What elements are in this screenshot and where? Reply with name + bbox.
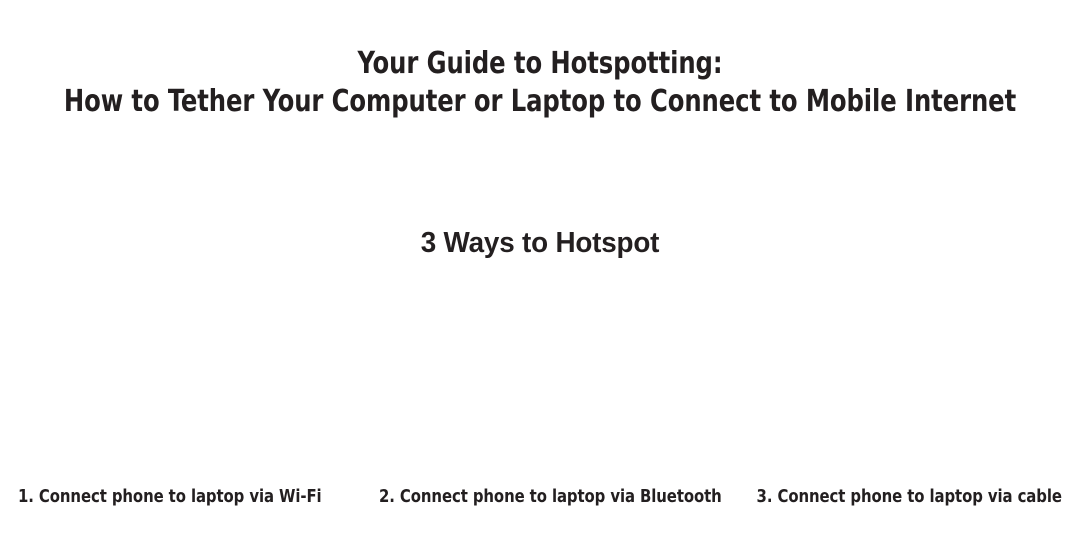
caption-row: 1. Connect phone to laptop via Wi-Fi 2. …: [0, 486, 1080, 512]
method-caption-cable: 3. Connect phone to laptop via cable: [757, 486, 1062, 508]
method-item-wifi: 1. Connect phone to laptop via Wi-Fi: [0, 486, 360, 508]
illustration-row: [0, 280, 1080, 478]
title-line-2: How to Tether Your Computer or Laptop to…: [54, 83, 1026, 121]
infographic-page: Your Guide to Hotspotting: How to Tether…: [0, 0, 1080, 552]
page-title: Your Guide to Hotspotting: How to Tether…: [0, 45, 1080, 121]
method-item-cable: 3. Connect phone to laptop via cable: [720, 486, 1080, 508]
title-line-1: Your Guide to Hotspotting:: [54, 45, 1026, 83]
illustration-cable: [720, 280, 1080, 478]
method-caption-bluetooth: 2. Connect phone to laptop via Bluetooth: [379, 486, 722, 508]
illustration-wifi: [0, 280, 360, 478]
section-heading: 3 Ways to Hotspot: [22, 224, 1059, 262]
method-caption-wifi: 1. Connect phone to laptop via Wi-Fi: [18, 486, 322, 508]
illustration-bluetooth: [360, 280, 720, 478]
method-item-bluetooth: 2. Connect phone to laptop via Bluetooth: [360, 486, 720, 508]
